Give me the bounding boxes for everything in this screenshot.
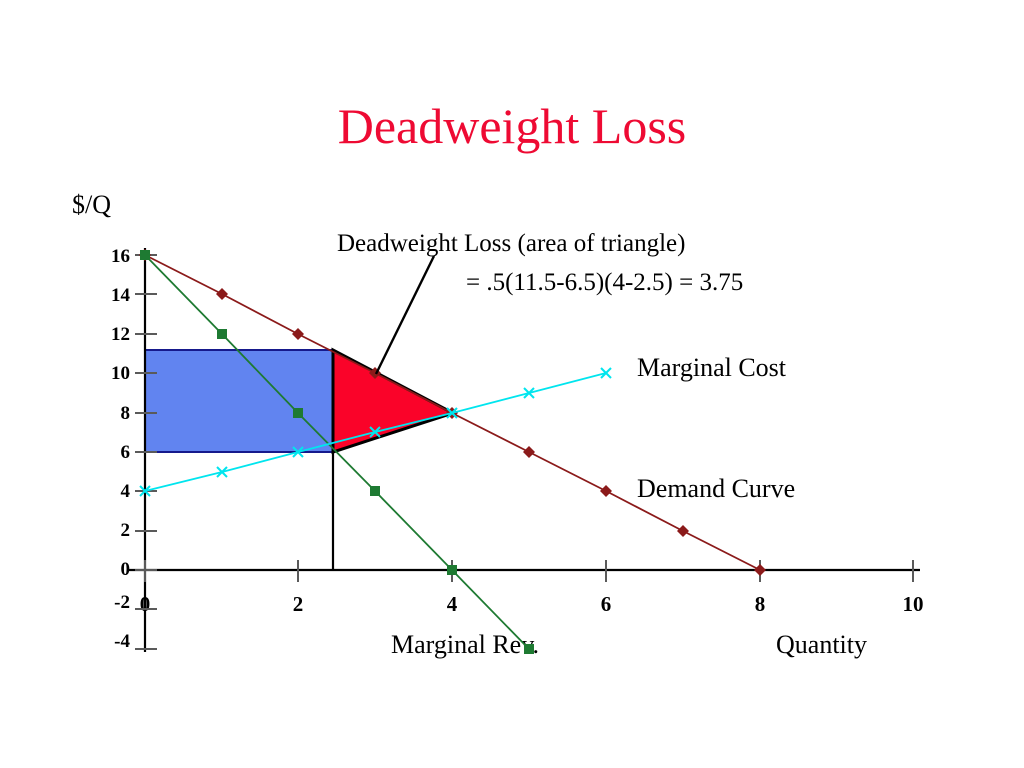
slide-canvas: Deadweight Loss $/Q Deadweight Loss (are… — [0, 0, 1024, 768]
chart-svg — [0, 0, 1024, 768]
annotation-leader-line — [376, 256, 434, 374]
deadweight-loss-triangle — [333, 350, 453, 452]
monopoly-profit-rectangle — [145, 350, 333, 452]
